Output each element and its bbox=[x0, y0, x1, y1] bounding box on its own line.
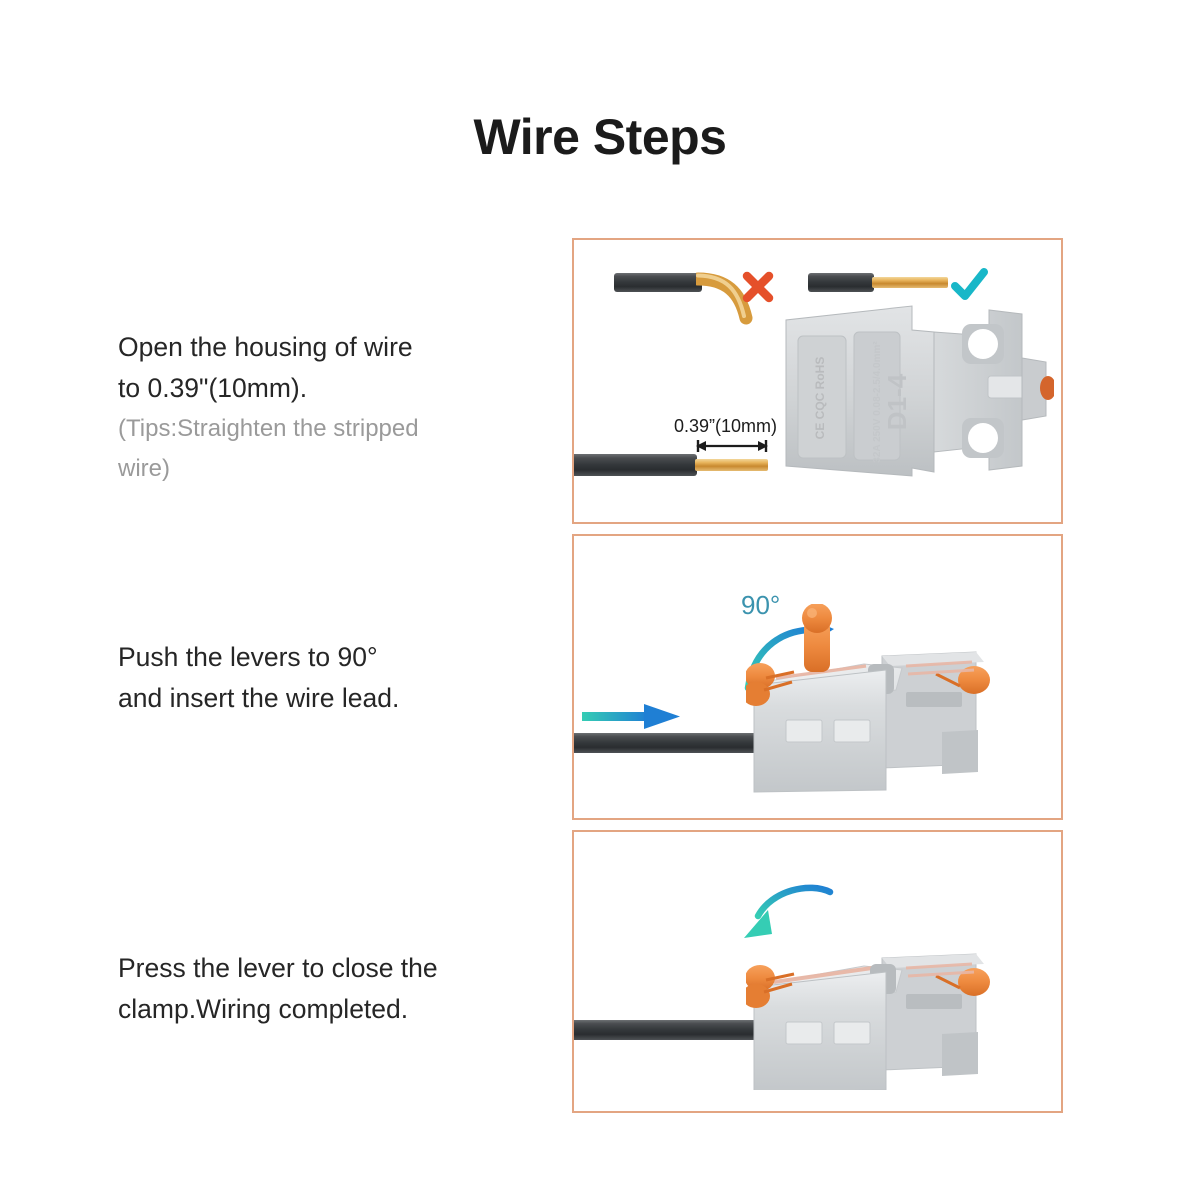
connector-levers-closed-illustration bbox=[746, 920, 1018, 1090]
connector-levers-open-illustration bbox=[746, 604, 1018, 794]
straight-arrow-right-icon bbox=[582, 704, 680, 730]
dimension-label: 0.39”(10mm) bbox=[674, 416, 777, 437]
step-description-3: Press the lever to close the clamp.Wirin… bbox=[118, 948, 518, 1030]
step-2-line-2: and insert the wire lead. bbox=[118, 678, 518, 719]
connector-model-text: D1-4 bbox=[882, 373, 912, 430]
step-illustration-panel-2: 90° bbox=[572, 534, 1063, 820]
step-3-line-2: clamp.Wiring completed. bbox=[118, 989, 518, 1030]
page-title: Wire Steps bbox=[0, 108, 1200, 166]
step-1-line-1: Open the housing of wire bbox=[118, 327, 518, 368]
connected-wire bbox=[572, 1020, 768, 1040]
step-description-2: Push the levers to 90° and insert the wi… bbox=[118, 637, 518, 719]
step-1-tip-line-2: wire) bbox=[118, 449, 518, 489]
step-1-line-2: to 0.39"(10mm). bbox=[118, 368, 518, 409]
step-3-line-1: Press the lever to close the bbox=[118, 948, 518, 989]
cross-mark-icon bbox=[741, 270, 775, 304]
connector-body-illustration: CE CQC RoHS 32A 250V 0.08-2.5/4.0mm² D1-… bbox=[784, 296, 1054, 496]
step-1-tip-line-1: (Tips:Straighten the stripped bbox=[118, 409, 518, 449]
step-description-1: Open the housing of wire to 0.39"(10mm).… bbox=[118, 327, 518, 489]
step-2-line-1: Push the levers to 90° bbox=[118, 637, 518, 678]
step-illustration-panel-3 bbox=[572, 830, 1063, 1113]
inserted-wire bbox=[572, 733, 768, 753]
lever-raised bbox=[802, 604, 832, 672]
step-illustration-panel-1: 0.39”(10mm) bbox=[572, 238, 1063, 524]
connector-certification-text: CE CQC RoHS bbox=[813, 357, 827, 440]
dimension-arrow-icon bbox=[696, 439, 768, 453]
